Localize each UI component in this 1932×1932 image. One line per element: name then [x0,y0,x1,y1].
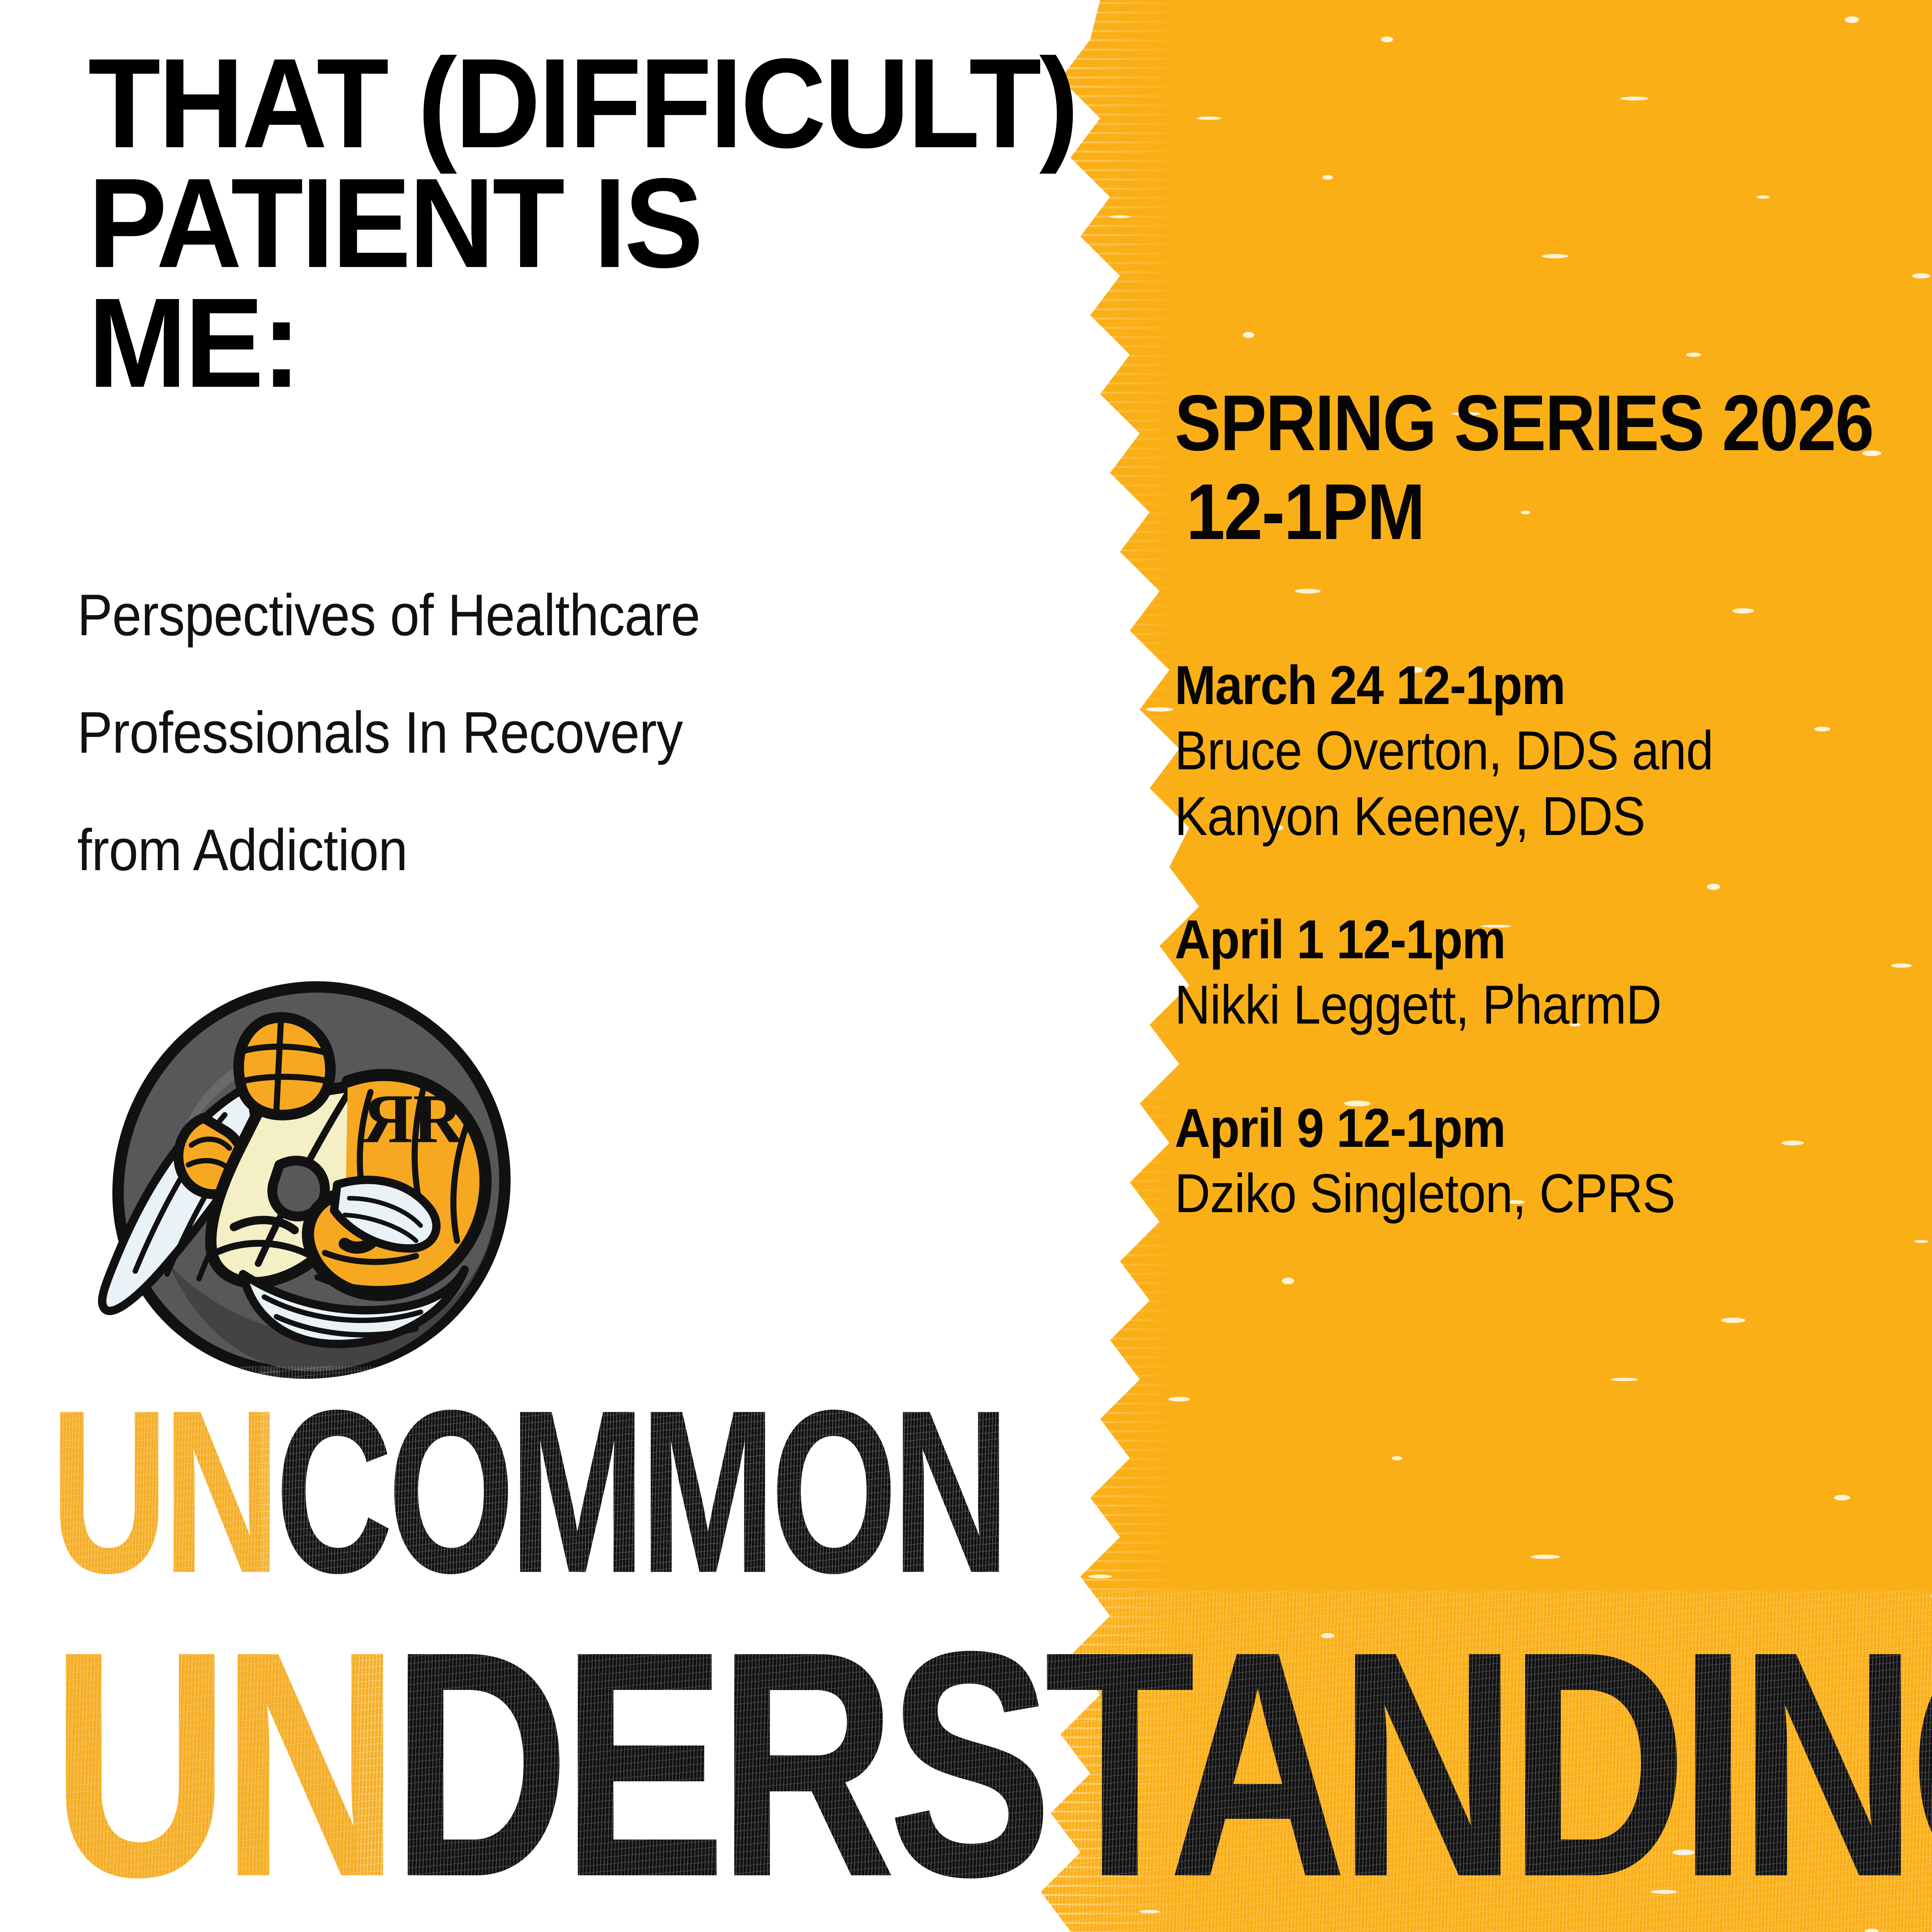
page-subtitle: Perspectives of Healthcare Professionals… [77,556,860,909]
wordmark-rest-derstanding: DERSTANDING [391,1604,1932,1925]
subtitle-line-1: Perspectives of Healthcare [77,556,860,674]
headline-line-3: ME: [88,283,1238,403]
list-item: April 9 12-1pm Dziko Singleton, CPRS [1175,1096,1928,1226]
wordmark-rest-common: COMMON [275,1376,1004,1608]
subtitle-line-2: Professionals In Recovery [77,674,860,791]
session-speakers: Bruce Overton, DDS and Kanyon Keeney, DD… [1175,718,1853,850]
series-title-line-1: SPRING SERIES 2026 [1175,379,1821,468]
poster-canvas: THAT (DIFFICULT) PATIENT IS ME: Perspect… [0,0,1932,1932]
speaker-line: Kanyon Keeney, DDS [1175,784,1853,849]
page-title: THAT (DIFFICULT) PATIENT IS ME: [88,43,1238,403]
brand-wordmark-uncommon: UNCOMMON [50,1376,1004,1608]
session-date: April 1 12-1pm [1175,907,1853,972]
subtitle-line-3: from Addiction [77,791,860,909]
logo-monogram: ЯR [362,1080,464,1158]
brand-wordmark-understanding: UNDERSTANDING [51,1604,1932,1925]
session-date: March 24 12-1pm [1175,653,1853,718]
speaker-line: Bruce Overton, DDS and [1175,718,1853,784]
speaker-line: Nikki Leggett, PharmD [1175,972,1853,1038]
session-date: April 9 12-1pm [1175,1096,1853,1161]
list-item: April 1 12-1pm Nikki Leggett, PharmD [1175,907,1928,1038]
session-list: March 24 12-1pm Bruce Overton, DDS and K… [1175,653,1928,1226]
list-item: March 24 12-1pm Bruce Overton, DDS and K… [1175,653,1928,849]
wordmark-prefix-un: UN [51,1604,391,1925]
ram-skull-logo: ЯR [66,966,545,1391]
headline-line-2: PATIENT IS [88,163,1238,283]
series-title-line-2: 12-1PM [1175,468,1821,556]
session-speakers: Nikki Leggett, PharmD [1175,972,1853,1038]
session-speakers: Dziko Singleton, CPRS [1175,1161,1853,1226]
speaker-line: Dziko Singleton, CPRS [1175,1161,1853,1226]
headline-line-1: THAT (DIFFICULT) [88,43,1238,163]
series-heading: SPRING SERIES 2026 12-1PM [1175,379,1909,556]
wordmark-prefix-un: UN [50,1376,275,1608]
